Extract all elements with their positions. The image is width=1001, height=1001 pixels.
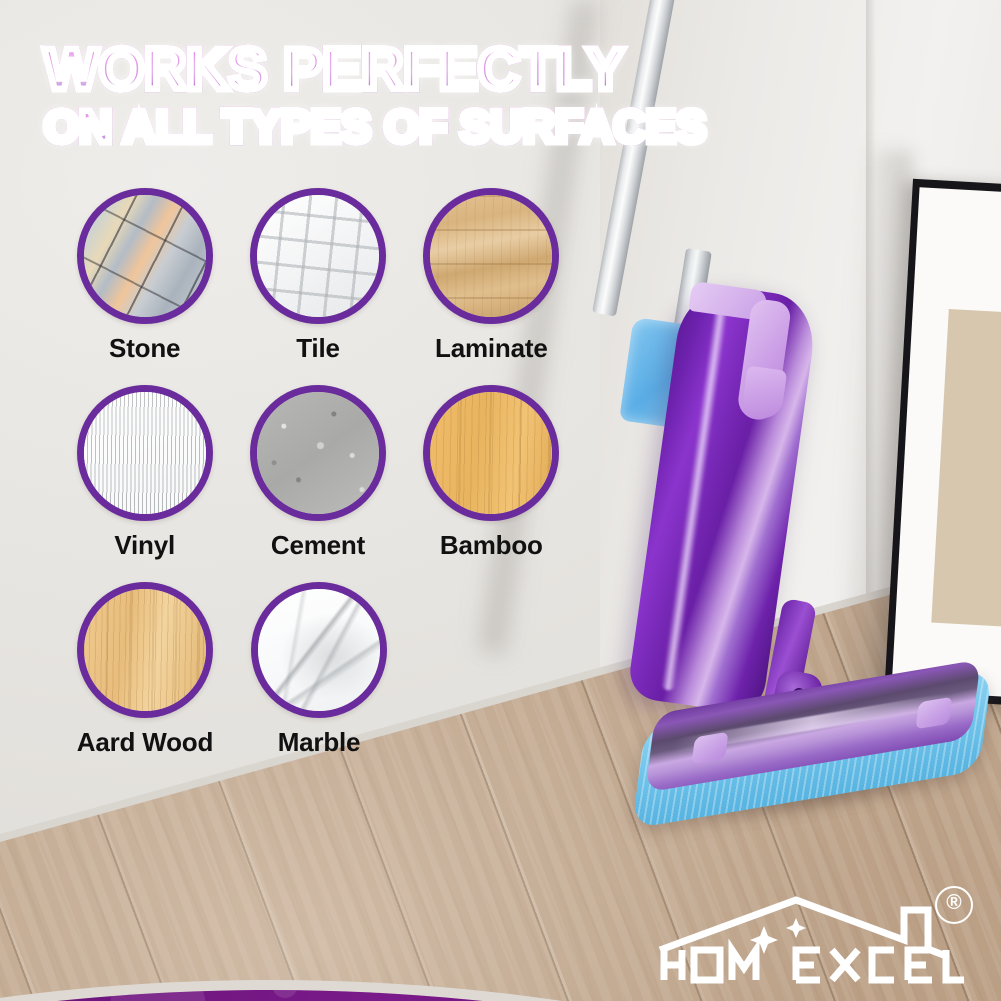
headline: WORKS PERFECTLY ON ALL TYPES OF SURFACES bbox=[44, 42, 684, 149]
vinyl-swatch bbox=[77, 385, 213, 521]
surface-label: Tile bbox=[231, 333, 404, 364]
marble-swatch bbox=[251, 582, 387, 718]
surface-row-3: Aard Wood Marble bbox=[58, 582, 578, 758]
surface-label: Marble bbox=[232, 727, 406, 758]
surface-item-marble: Marble bbox=[232, 582, 406, 758]
star-icon bbox=[786, 918, 806, 938]
tile-swatch bbox=[250, 188, 386, 324]
brand-logo: ® bbox=[646, 892, 966, 988]
surface-label: Cement bbox=[231, 530, 404, 561]
surface-row-2: Vinyl Cement Bamboo bbox=[58, 385, 578, 561]
infographic-canvas: WORKS PERFECTLY ON ALL TYPES OF SURFACES… bbox=[0, 0, 1001, 1001]
headline-line-2: ON ALL TYPES OF SURFACES bbox=[44, 105, 684, 149]
surface-item-bamboo: Bamboo bbox=[405, 385, 578, 561]
surface-item-stone: Stone bbox=[58, 188, 231, 364]
surface-item-cement: Cement bbox=[231, 385, 404, 561]
laminate-swatch bbox=[423, 188, 559, 324]
surface-label: Vinyl bbox=[58, 530, 231, 561]
surface-item-tile: Tile bbox=[231, 188, 404, 364]
surface-types-grid: Stone Tile Laminate Vinyl Cement B bbox=[58, 188, 578, 779]
headline-line-1: WORKS PERFECTLY bbox=[44, 42, 684, 99]
homexcel-logo-mark bbox=[646, 892, 966, 988]
hardwood-swatch bbox=[77, 582, 213, 718]
surface-label: Bamboo bbox=[405, 530, 578, 561]
surface-label: Laminate bbox=[405, 333, 578, 364]
surface-label: Stone bbox=[58, 333, 231, 364]
registered-trademark-icon: ® bbox=[935, 886, 973, 924]
picture-frame-mat bbox=[891, 187, 1001, 701]
surface-row-1: Stone Tile Laminate bbox=[58, 188, 578, 364]
surface-label: Aard Wood bbox=[58, 727, 232, 758]
surface-item-laminate: Laminate bbox=[405, 188, 578, 364]
bamboo-swatch bbox=[423, 385, 559, 521]
surface-item-hardwood: Aard Wood bbox=[58, 582, 232, 758]
cement-swatch bbox=[250, 385, 386, 521]
stone-swatch bbox=[77, 188, 213, 324]
surface-item-vinyl: Vinyl bbox=[58, 385, 231, 561]
picture-frame-art bbox=[931, 309, 1001, 631]
